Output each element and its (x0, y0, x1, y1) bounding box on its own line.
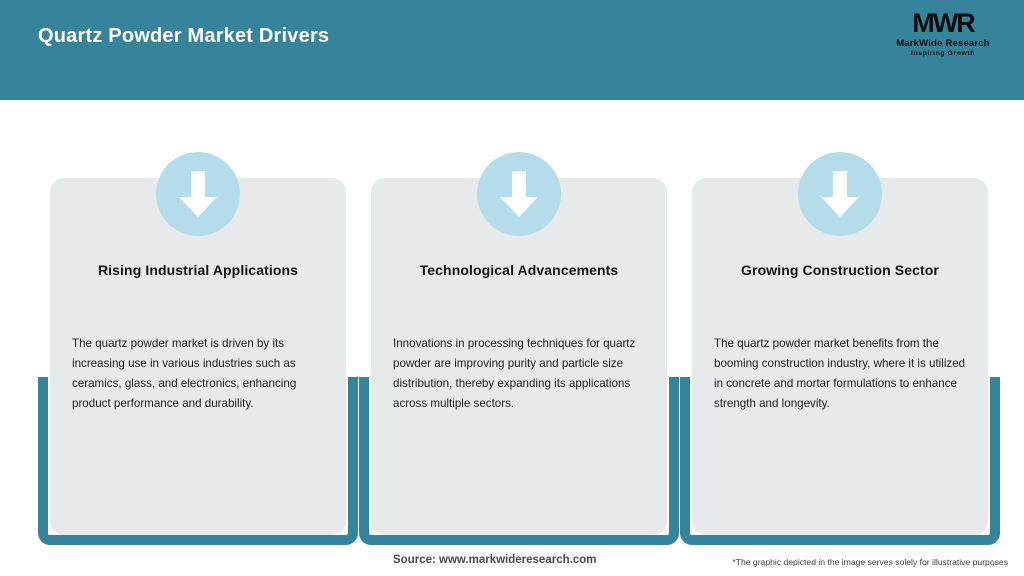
down-arrow-glyph (175, 169, 221, 219)
card-title: Technological Advancements (381, 262, 657, 278)
card-panel: Rising Industrial Applications The quart… (50, 178, 346, 535)
down-arrow-glyph (496, 169, 542, 219)
down-arrow-icon (798, 152, 882, 236)
down-arrow-icon (156, 152, 240, 236)
card-body-text: Innovations in processing techniques for… (393, 334, 651, 414)
disclaimer-note: *The graphic depicted in the image serve… (732, 557, 1008, 567)
card-panel: Technological Advancements Innovations i… (371, 178, 667, 535)
card-title: Rising Industrial Applications (60, 262, 336, 278)
card-title: Growing Construction Sector (702, 262, 978, 278)
down-arrow-icon (477, 152, 561, 236)
card-body-text: The quartz powder market is driven by it… (72, 334, 330, 414)
card-body-text: The quartz powder market benefits from t… (714, 334, 972, 414)
down-arrow-glyph (817, 169, 863, 219)
source-label: Source: www.markwideresearch.com (393, 554, 596, 566)
card-panel: Growing Construction Sector The quartz p… (692, 178, 988, 535)
driver-cards-container: Rising Industrial Applications The quart… (0, 0, 1024, 576)
